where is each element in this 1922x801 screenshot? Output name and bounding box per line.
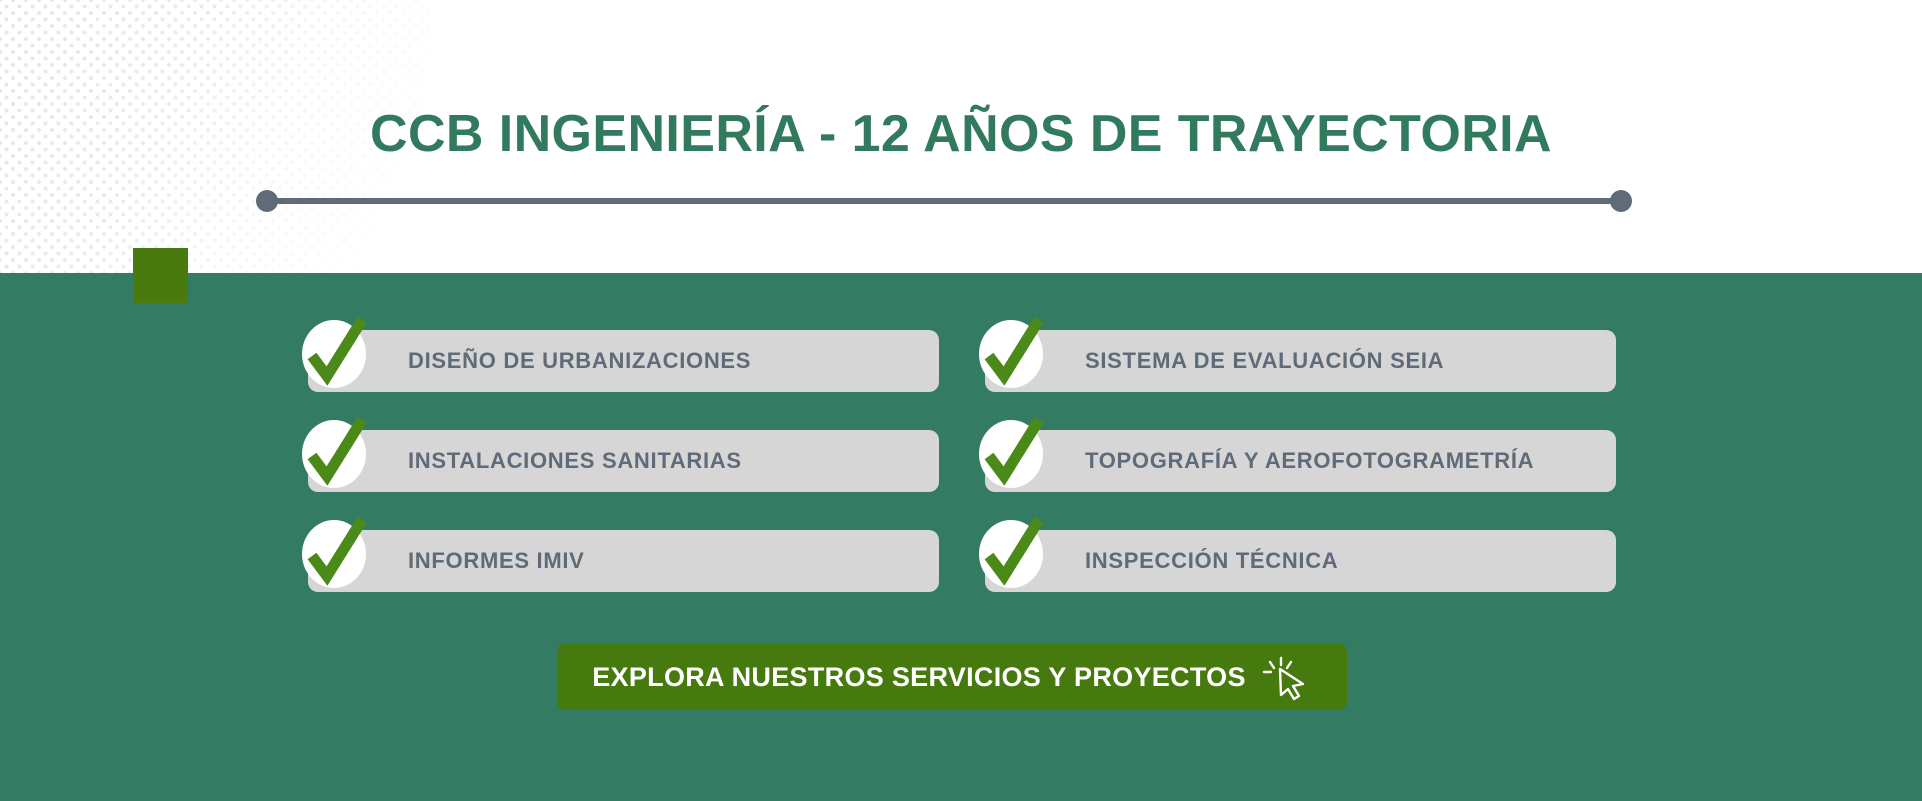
service-label: INSPECCIÓN TÉCNICA xyxy=(1085,548,1338,574)
check-icon xyxy=(973,312,1049,396)
cta-label: EXPLORA NUESTROS SERVICIOS Y PROYECTOS xyxy=(592,662,1246,693)
divider-rule xyxy=(266,198,1622,204)
divider-dot-right-icon xyxy=(1610,190,1632,212)
service-label: SISTEMA DE EVALUACIÓN SEIA xyxy=(1085,348,1444,374)
service-label: DISEÑO DE URBANIZACIONES xyxy=(408,348,751,374)
check-icon xyxy=(296,512,372,596)
service-item[interactable]: DISEÑO DE URBANIZACIONES xyxy=(308,330,939,392)
service-item[interactable]: INSTALACIONES SANITARIAS xyxy=(308,430,939,492)
service-item[interactable]: INFORMES IMIV xyxy=(308,530,939,592)
page-title: CCB INGENIERÍA - 12 AÑOS DE TRAYECTORIA xyxy=(0,108,1922,160)
service-label: INSTALACIONES SANITARIAS xyxy=(408,448,742,474)
check-icon xyxy=(296,412,372,496)
services-list: DISEÑO DE URBANIZACIONES SISTEMA DE EVAL… xyxy=(308,330,1616,592)
title-divider xyxy=(258,193,1630,209)
promo-banner: CCB INGENIERÍA - 12 AÑOS DE TRAYECTORIA … xyxy=(0,0,1922,801)
click-cursor-icon xyxy=(1260,653,1312,701)
check-icon xyxy=(973,512,1049,596)
service-label: INFORMES IMIV xyxy=(408,548,585,574)
service-label: TOPOGRAFÍA Y AEROFOTOGRAMETRÍA xyxy=(1085,448,1534,474)
service-item[interactable]: INSPECCIÓN TÉCNICA xyxy=(985,530,1616,592)
explore-services-button[interactable]: EXPLORA NUESTROS SERVICIOS Y PROYECTOS xyxy=(557,644,1347,710)
accent-square-decoration xyxy=(133,248,188,303)
service-item[interactable]: SISTEMA DE EVALUACIÓN SEIA xyxy=(985,330,1616,392)
check-icon xyxy=(296,312,372,396)
service-item[interactable]: TOPOGRAFÍA Y AEROFOTOGRAMETRÍA xyxy=(985,430,1616,492)
check-icon xyxy=(973,412,1049,496)
